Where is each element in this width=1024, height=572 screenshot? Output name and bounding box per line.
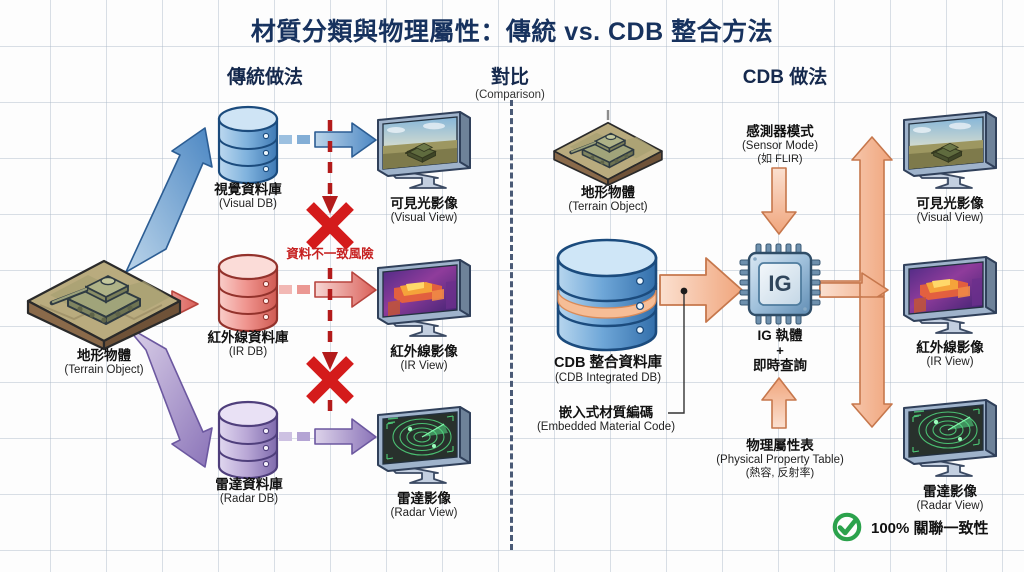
cpu-chip-icon: IG [738,242,822,326]
section-header-traditional-label: 傳統做法 [175,62,355,89]
caption-database-visual: 視覺資料庫 (Visual DB) [178,182,318,211]
terrain-tank-icon [24,243,184,353]
green-check-icon [832,512,862,542]
section-header-cdb: CDB 做法 [690,62,880,89]
caption-en: (Radar DB) [178,493,320,507]
database-visual[interactable] [215,105,281,185]
caption-database-cdb: CDB 整合資料庫 (CDB Integrated DB) [528,355,688,386]
caption-monitor-radar-right: 雷達影像 (Radar View) [886,484,1014,513]
caption-sensor-mode: 感測器模式 (Sensor Mode) (如 FLIR) [712,124,848,166]
caption-plus: + [718,344,842,359]
caption-ig-engine: IG 執體 + 即時查詢 [718,328,842,374]
caption-en: (Terrain Object) [24,364,184,378]
ig-chip-label: IG [768,271,791,296]
caption-zh: 可見光影像 [360,196,488,212]
database-radar[interactable] [215,400,281,480]
monitor-ir-icon [372,258,476,342]
caption-en2: (熱容, 反射率) [690,467,870,480]
caption-zh: 嵌入式材質編碼 [518,405,694,421]
monitor-radar-right[interactable] [898,398,998,476]
red-x-icon [300,350,360,410]
caption-monitor-visual-right: 可見光影像 (Visual View) [886,196,1014,225]
caption-monitor-radar-left: 雷達影像 (Radar View) [360,491,488,520]
section-header-comparison: 對比 (Comparison) [455,62,565,101]
diagram-canvas: 材質分類與物理屬性：傳統 vs. CDB 整合方法 傳統做法 對比 (Compa… [0,0,1024,572]
caption-en: (Radar View) [360,507,488,521]
monitor-radar-icon [372,405,476,489]
caption-monitor-ir-right: 紅外線影像 (IR View) [884,340,1016,369]
caption-zh: 雷達影像 [360,491,488,507]
caption-monitor-visual-left: 可見光影像 (Visual View) [360,196,488,225]
monitor-visual-left[interactable] [372,110,472,188]
caption-en2: (如 FLIR) [712,153,848,166]
caption-zh: 紅外線資料庫 [172,330,324,346]
leader-embedded-material-code [668,291,684,413]
caption-zh: 地形物體 [24,348,184,364]
terrain-object-right [550,110,666,188]
database-icon [215,105,281,187]
caption-zh-engine: IG 執體 [718,328,842,344]
monitor-visual-icon [898,110,1002,194]
monitor-ir-icon [898,255,1002,339]
database-ir[interactable] [215,253,281,333]
caption-en: (IR View) [358,360,490,374]
mismatch-marker-lower [300,350,360,415]
caption-zh: CDB 整合資料庫 [528,355,688,372]
caption-zh: 雷達影像 [886,484,1014,500]
monitor-radar-left[interactable] [372,405,472,483]
caption-terrain-object-right: 地形物體 (Terrain Object) [545,185,671,214]
arrow-irdb-to-irview [279,272,376,307]
page-title: 材質分類與物理屬性：傳統 vs. CDB 整合方法 [0,12,1024,48]
consistency-badge-label: 100% 關聯一致性 [871,517,989,538]
arrow-visualdb-to-visualview [279,123,376,157]
database-icon [552,238,662,354]
arrow-propertytable-to-ig [762,378,796,428]
consistency-badge: 100% 關聯一致性 [832,512,989,542]
caption-zh: 可見光影像 [886,196,1014,212]
ig-chip[interactable]: IG [738,242,822,326]
monitor-visual-right[interactable] [898,110,998,188]
section-header-traditional: 傳統做法 [175,62,355,89]
database-cdb[interactable] [552,238,662,359]
caption-zh: 感測器模式 [712,124,848,140]
caption-property-table: 物理屬性表 (Physical Property Table) (熱容, 反射率… [690,438,870,480]
caption-zh: 視覺資料庫 [178,182,318,198]
caption-en: (Visual DB) [178,198,318,212]
section-header-comparison-label: 對比 [455,62,565,89]
terrain-tank-icon [550,110,666,188]
caption-zh: 雷達資料庫 [178,477,320,493]
caption-zh: 地形物體 [545,185,671,201]
database-icon [215,400,281,482]
caption-zh-query: 即時查詢 [718,358,842,374]
caption-en: (Embedded Material Code) [518,421,694,435]
monitor-ir-right[interactable] [898,255,998,333]
section-header-cdb-label: CDB 做法 [690,62,880,89]
section-divider [510,100,513,550]
caption-en: (CDB Integrated DB) [528,372,688,386]
database-icon [215,253,281,335]
caption-terrain-object-left: 地形物體 (Terrain Object) [24,348,184,377]
arrow-radardb-to-radarview [279,419,376,454]
caption-en: (Physical Property Table) [690,454,870,468]
caption-zh: 物理屬性表 [690,438,870,454]
monitor-ir-left[interactable] [372,258,472,336]
monitor-radar-icon [898,398,1002,482]
caption-en: (Terrain Object) [545,201,671,215]
caption-monitor-ir-left: 紅外線影像 (IR View) [358,344,490,373]
arrow-ig-to-irview [820,273,888,307]
caption-zh: 紅外線影像 [358,344,490,360]
arrow-cdb-to-ig [660,258,742,322]
caption-en: (IR View) [884,356,1016,370]
caption-en: (Sensor Mode) [712,140,848,154]
caption-database-radar: 雷達資料庫 (Radar DB) [178,477,320,506]
arrow-sensormode-to-ig [762,168,796,234]
caption-zh: 紅外線影像 [884,340,1016,356]
monitor-visual-icon [372,110,476,194]
caption-en: (Visual View) [886,212,1014,226]
caption-embedded-material-code: 嵌入式材質編碼 (Embedded Material Code) [518,405,694,434]
leader-dot-embedded-code [681,288,688,295]
terrain-object-left [24,243,184,353]
caption-en: (Visual View) [360,212,488,226]
